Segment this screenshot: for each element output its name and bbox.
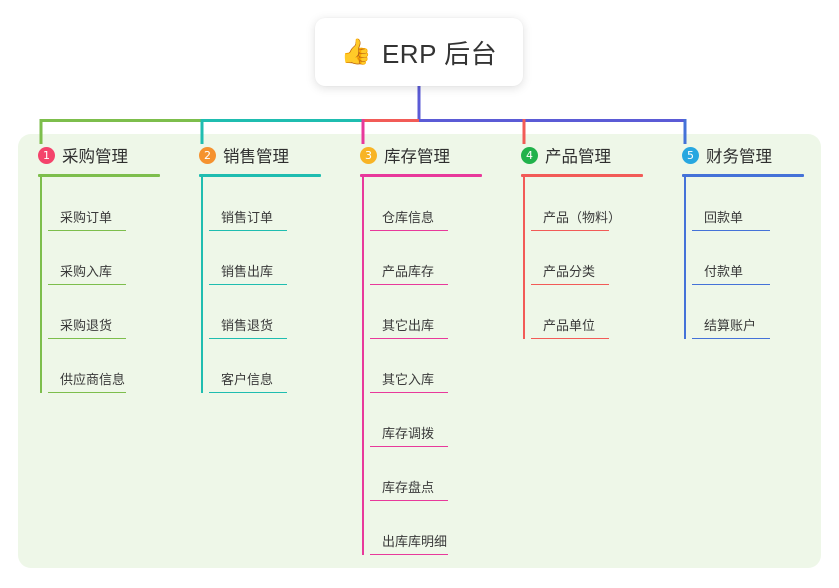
column-badge: 3 — [360, 147, 377, 164]
column-title: 销售管理 — [223, 143, 289, 167]
column-产品管理: 4产品管理产品（物料）产品分类产品单位 — [501, 134, 662, 568]
column-items: 产品（物料）产品分类产品单位 — [521, 177, 662, 339]
root-node-card[interactable]: 👍 ERP 后台 — [315, 18, 523, 86]
list-item-label: 采购入库 — [60, 264, 179, 284]
list-item[interactable]: 回款单 — [682, 177, 823, 231]
column-采购管理: 1采购管理采购订单采购入库采购退货供应商信息 — [18, 134, 179, 568]
list-item-label: 产品单位 — [543, 318, 662, 338]
list-item-label: 产品（物料） — [543, 210, 662, 230]
list-item[interactable]: 客户信息 — [199, 339, 340, 393]
list-item-label: 采购退货 — [60, 318, 179, 338]
list-item[interactable]: 产品分类 — [521, 231, 662, 285]
list-item[interactable]: 销售订单 — [199, 177, 340, 231]
list-item-label: 销售退货 — [221, 318, 340, 338]
column-items: 销售订单销售出库销售退货客户信息 — [199, 177, 340, 393]
column-badge: 2 — [199, 147, 216, 164]
list-item[interactable]: 采购订单 — [38, 177, 179, 231]
list-item[interactable]: 采购退货 — [38, 285, 179, 339]
list-item[interactable]: 仓库信息 — [360, 177, 501, 231]
list-item-label: 销售订单 — [221, 210, 340, 230]
list-item[interactable]: 其它出库 — [360, 285, 501, 339]
list-item[interactable]: 结算账户 — [682, 285, 823, 339]
column-items: 仓库信息产品库存其它出库其它入库库存调拨库存盘点出库库明细 — [360, 177, 501, 555]
list-item-underline — [531, 338, 609, 339]
list-item-label: 结算账户 — [704, 318, 823, 338]
list-item[interactable]: 产品单位 — [521, 285, 662, 339]
column-items: 采购订单采购入库采购退货供应商信息 — [38, 177, 179, 393]
list-item[interactable]: 产品（物料） — [521, 177, 662, 231]
list-item[interactable]: 供应商信息 — [38, 339, 179, 393]
column-container: 1采购管理采购订单采购入库采购退货供应商信息2销售管理销售订单销售出库销售退货客… — [18, 134, 821, 568]
list-item-label: 出库库明细 — [382, 534, 501, 554]
column-header[interactable]: 1采购管理 — [38, 134, 179, 168]
list-item-label: 客户信息 — [221, 372, 340, 392]
list-item-label: 其它入库 — [382, 372, 501, 392]
column-badge: 5 — [682, 147, 699, 164]
list-item[interactable]: 付款单 — [682, 231, 823, 285]
column-badge: 1 — [38, 147, 55, 164]
list-item[interactable]: 销售退货 — [199, 285, 340, 339]
column-header[interactable]: 2销售管理 — [199, 134, 340, 168]
root-node-title: ERP 后台 — [382, 34, 497, 71]
thumbs-up-icon: 👍 — [341, 40, 372, 65]
list-item-label: 供应商信息 — [60, 372, 179, 392]
column-header[interactable]: 3库存管理 — [360, 134, 501, 168]
column-title: 产品管理 — [545, 143, 611, 167]
list-item-label: 产品分类 — [543, 264, 662, 284]
list-item-label: 采购订单 — [60, 210, 179, 230]
column-title: 采购管理 — [62, 143, 128, 167]
list-item[interactable]: 其它入库 — [360, 339, 501, 393]
column-财务管理: 5财务管理回款单付款单结算账户 — [662, 134, 823, 568]
column-header[interactable]: 5财务管理 — [682, 134, 823, 168]
list-item[interactable]: 产品库存 — [360, 231, 501, 285]
list-item-label: 产品库存 — [382, 264, 501, 284]
list-item-underline — [48, 392, 126, 393]
list-item-label: 销售出库 — [221, 264, 340, 284]
list-item-underline — [209, 392, 287, 393]
list-item[interactable]: 库存调拨 — [360, 393, 501, 447]
list-item-underline — [692, 338, 770, 339]
column-header[interactable]: 4产品管理 — [521, 134, 662, 168]
list-item-label: 回款单 — [704, 210, 823, 230]
list-item-label: 库存调拨 — [382, 426, 501, 446]
list-item-underline — [370, 554, 448, 555]
list-item[interactable]: 采购入库 — [38, 231, 179, 285]
list-item-label: 仓库信息 — [382, 210, 501, 230]
list-item[interactable]: 库存盘点 — [360, 447, 501, 501]
list-item[interactable]: 销售出库 — [199, 231, 340, 285]
column-销售管理: 2销售管理销售订单销售出库销售退货客户信息 — [179, 134, 340, 568]
list-item[interactable]: 出库库明细 — [360, 501, 501, 555]
column-badge: 4 — [521, 147, 538, 164]
list-item-label: 其它出库 — [382, 318, 501, 338]
column-库存管理: 3库存管理仓库信息产品库存其它出库其它入库库存调拨库存盘点出库库明细 — [340, 134, 501, 568]
column-title: 库存管理 — [384, 143, 450, 167]
column-title: 财务管理 — [706, 143, 772, 167]
list-item-label: 库存盘点 — [382, 480, 501, 500]
column-items: 回款单付款单结算账户 — [682, 177, 823, 339]
list-item-label: 付款单 — [704, 264, 823, 284]
